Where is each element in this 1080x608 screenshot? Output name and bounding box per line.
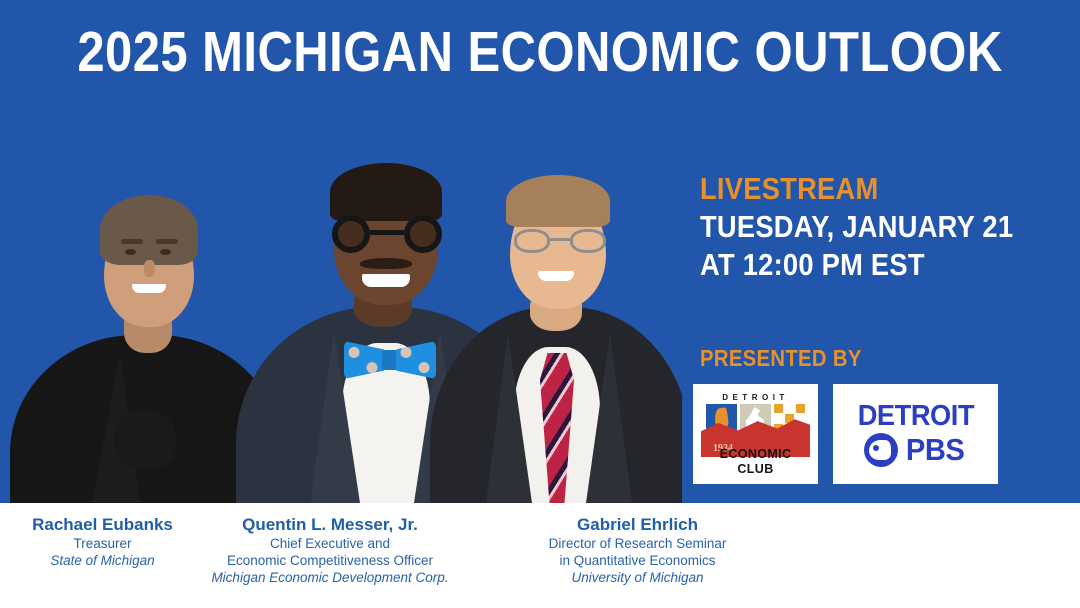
pbs-face-shape	[869, 440, 891, 460]
speaker-name: Gabriel Ehrlich	[465, 514, 810, 535]
event-details: LIVESTREAM TUESDAY, JANUARY 21 AT 12:00 …	[700, 170, 1040, 284]
speaker-photo-band	[0, 120, 682, 503]
speaker-organization: State of Michigan	[0, 552, 205, 569]
event-time: AT 12:00 PM EST	[700, 246, 999, 284]
dec-economic-club-text: ECONOMIC CLUB	[703, 446, 808, 476]
dec-detroit-text: DETROIT	[701, 393, 810, 402]
smile	[132, 284, 166, 293]
hair-top	[100, 195, 198, 265]
round-glasses	[332, 215, 442, 253]
hair	[330, 163, 442, 221]
smile	[538, 271, 574, 281]
eye-left	[125, 249, 136, 255]
pbs-head-icon	[864, 433, 898, 467]
speaker-title-line: Economic Competitiveness Officer	[180, 552, 480, 569]
dec-red-dot	[786, 430, 795, 439]
speaker-title-line: in Quantitative Economics	[465, 552, 810, 569]
speaker-title-line: Chief Executive and	[180, 535, 480, 552]
detroit-pbs-logo[interactable]: DETROIT PBS	[833, 384, 998, 484]
lapel-right	[586, 333, 632, 503]
pbs-text: PBS	[906, 434, 965, 466]
checker-square	[774, 404, 783, 413]
collar	[114, 409, 176, 469]
speaker-title-line: Treasurer	[0, 535, 205, 552]
smile	[362, 274, 410, 287]
speaker-caption: Quentin L. Messer, Jr. Chief Executive a…	[180, 514, 480, 586]
speaker-name: Quentin L. Messer, Jr.	[180, 514, 480, 535]
pbs-detroit-text: DETROIT	[857, 401, 973, 431]
lapel-left	[486, 333, 532, 503]
speaker-organization: Michigan Economic Development Corp.	[180, 569, 480, 586]
sponsor-logos: DETROIT	[693, 384, 998, 484]
nose	[144, 260, 155, 277]
mustache	[360, 258, 412, 269]
pbs-mark-row: PBS	[864, 433, 966, 467]
bow-tie	[344, 341, 436, 379]
checker-square	[796, 404, 805, 413]
event-date: TUESDAY, JANUARY 21	[700, 208, 999, 246]
hair	[506, 175, 610, 227]
glasses-bridge	[550, 238, 570, 241]
lens-left	[332, 215, 370, 253]
livestream-label: LIVESTREAM	[700, 170, 999, 208]
glasses-bridge	[370, 230, 404, 235]
detroit-economic-club-logo[interactable]: DETROIT	[693, 384, 818, 484]
speaker-name: Rachael Eubanks	[0, 514, 205, 535]
pbs-eye	[873, 445, 879, 451]
speaker-photo-gabriel-ehrlich	[430, 120, 682, 503]
speaker-title-line: Director of Research Seminar	[465, 535, 810, 552]
presented-by-label: PRESENTED BY	[700, 345, 862, 372]
bow-tie-knot	[382, 350, 398, 370]
event-promo-poster: 2025 MICHIGAN ECONOMIC OUTLOOK	[0, 0, 1080, 608]
lens-right	[570, 229, 606, 253]
speaker-caption: Rachael Eubanks Treasurer State of Michi…	[0, 514, 205, 569]
rimless-glasses	[514, 229, 606, 255]
eyebrow-right	[156, 239, 178, 244]
eyebrow-left	[121, 239, 143, 244]
page-title: 2025 MICHIGAN ECONOMIC OUTLOOK	[76, 22, 1005, 82]
speaker-caption-bar: Rachael Eubanks Treasurer State of Michi…	[0, 503, 1080, 608]
speaker-caption: Gabriel Ehrlich Director of Research Sem…	[465, 514, 810, 586]
bow-tie-left	[344, 341, 384, 379]
speaker-organization: University of Michigan	[465, 569, 810, 586]
eye-right	[160, 249, 171, 255]
lens-left	[514, 229, 550, 253]
